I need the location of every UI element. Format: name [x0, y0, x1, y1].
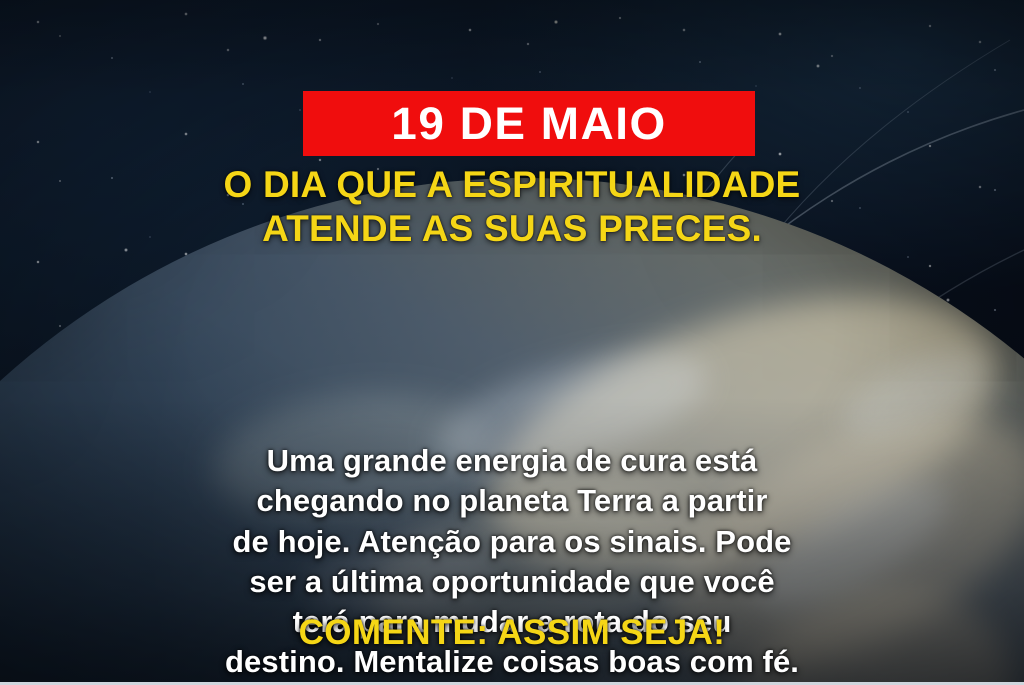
headline: O DIA QUE A ESPIRITUALIDADE ATENDE AS SU…	[0, 163, 1024, 250]
poster-content: 19 DE MAIO O DIA QUE A ESPIRITUALIDADE A…	[0, 0, 1024, 685]
body-line-3: de hoje. Atenção para os sinais. Pode	[52, 522, 972, 562]
body-line-4: ser a última oportunidade que você	[52, 562, 972, 602]
body-line-2: chegando no planeta Terra a partir	[52, 481, 972, 521]
headline-line-2: ATENDE AS SUAS PRECES.	[0, 207, 1024, 251]
poster-canvas: 19 DE MAIO O DIA QUE A ESPIRITUALIDADE A…	[0, 0, 1024, 685]
date-banner: 19 DE MAIO	[303, 91, 755, 156]
headline-line-1: O DIA QUE A ESPIRITUALIDADE	[0, 163, 1024, 207]
date-banner-label: 19 DE MAIO	[391, 101, 666, 146]
call-to-action-text: COMENTE: ASSIM SEJA!	[0, 613, 1024, 653]
body-line-1: Uma grande energia de cura está	[52, 441, 972, 481]
